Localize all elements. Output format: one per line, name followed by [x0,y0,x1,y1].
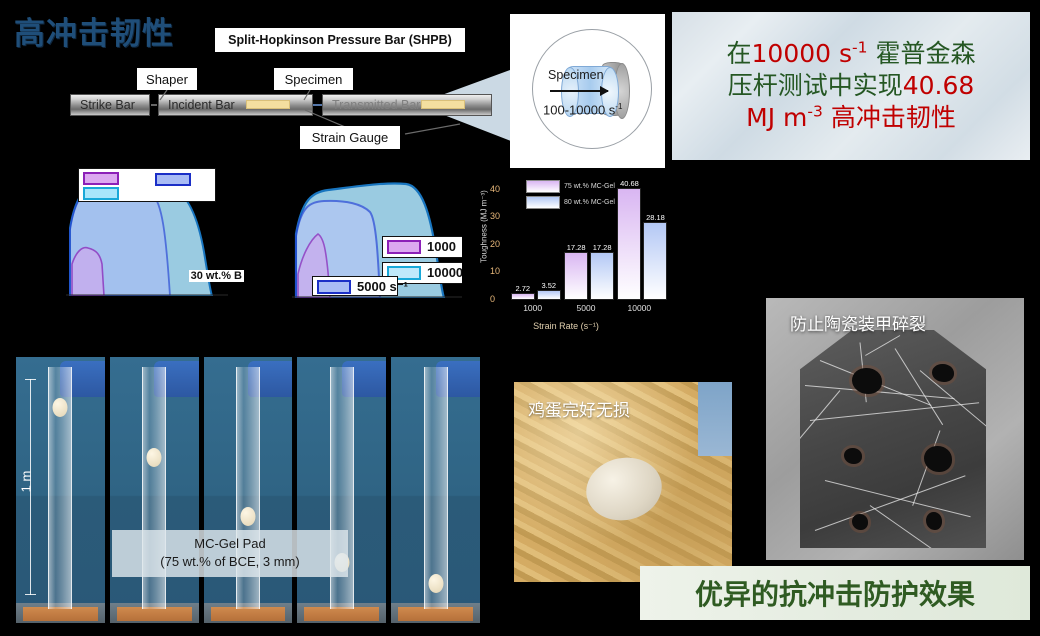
y-tick-label: 10 [490,266,500,276]
crack-line [865,335,900,356]
impact-hole [926,512,942,530]
legend-swatch [526,180,560,193]
bar: 17.28 [590,252,614,300]
y-tick-label: 40 [490,184,500,194]
zoom-specimen-label: Specimen [548,68,604,82]
bar-chart-x-axis-label: Strain Rate (s⁻¹) [462,321,670,332]
headline-line-3: MJ m-3 高冲击韧性 [746,102,956,134]
bar-value-label: 2.72 [515,284,530,293]
impact-hole [852,368,882,394]
crack-line [895,348,944,425]
falling-egg [53,398,68,417]
bar-chart-legend: 75 wt.% MC-Gel80 wt.% MC-Gel [526,180,615,212]
stress-strain-chart-1: 30 wt.% B [62,168,232,296]
drop-test-frame [297,357,386,623]
landing-mat [117,607,192,621]
toughness-bar-chart: Toughness (MJ m⁻³) 010203040 2.723.52100… [462,168,670,336]
label-specimen: Specimen [274,68,353,90]
landing-mat [304,607,379,621]
landing-mat [398,607,473,621]
egg-photo-label: 鸡蛋完好无损 [528,396,630,421]
bar-group: 40.6828.1810000 [617,176,661,300]
legend-swatch-blue [317,280,351,294]
bar-value-label: 17.28 [567,243,586,252]
label-strain-gauge: Strain Gauge [300,126,400,149]
bar-value-label: 28.18 [646,213,665,222]
legend-swatch-purple [83,172,119,185]
crack-line [920,370,1005,441]
legend-entry: 80 wt.% MC-Gel [526,196,615,209]
drop-test-frame: 1 m [16,357,105,623]
zoom-strain-rate-label: 100-10000 s-1 [543,102,622,117]
banner-text: 优异的抗冲击防护效果 [695,573,975,613]
bar-assembly: Strike Bar Incident Bar Transmitted Bar [70,94,492,116]
egg-photo: 鸡蛋完好无损 [514,382,732,582]
impact-hole [844,448,862,464]
falling-egg [147,448,162,467]
strain-gauge-icon [421,100,465,109]
impact-hole [852,514,868,530]
crack-line [810,402,979,421]
headline-callout: 在10000 s-1 霍普金森 压杆测试中实现40.68 MJ m-3 高冲击韧… [672,12,1030,160]
bar: 40.68 [617,188,641,300]
y-tick-label: 20 [490,239,500,249]
legend-swatch-blue [155,173,191,186]
y-tick-label: 30 [490,211,500,221]
headline-line-2: 压杆测试中实现40.68 [728,70,975,102]
shpb-zoom-panel: Specimen 100-10000 s-1 [510,14,665,169]
headline-line-1: 在10000 s-1 霍普金森 [727,38,976,70]
impact-arrow-icon [550,90,608,92]
x-tick-label: 10000 [627,303,651,313]
slide-canvas: 高冲击韧性 Split-Hopkinson Pressure Bar (SHPB… [0,0,1040,636]
drop-test-photo-strip: 1 m [16,357,480,623]
bar: 3.52 [537,290,561,300]
bar: 17.28 [564,252,588,300]
curve-1-note: 30 wt.% B [189,270,244,282]
legend-swatch-purple [387,240,421,254]
legend-label: 1000 [427,239,456,254]
legend-swatch [526,196,560,209]
drop-test-frame [204,357,293,623]
drop-test-frame [110,357,199,623]
legend-entry: 75 wt.% MC-Gel [526,180,615,193]
falling-egg [428,574,443,593]
incident-bar: Incident Bar [158,94,313,116]
bar: 28.18 [643,222,667,300]
drop-test-frame [391,357,480,623]
conclusion-banner: 优异的抗冲击防护效果 [640,566,1030,620]
curve-2-legend-5000: 5000 s⁻¹ [312,276,398,296]
bar-value-label: 3.52 [541,281,556,290]
x-tick-label: 1000 [523,303,542,313]
strain-gauge-icon [246,100,290,109]
legend-label: 80 wt.% MC-Gel [564,199,615,206]
impact-hole [924,446,952,472]
shpb-title: Split-Hopkinson Pressure Bar (SHPB) [215,28,465,52]
mc-gel-pad-callout: MC-Gel Pad (75 wt.% of BCE, 3 mm) [112,530,348,577]
bar-value-label: 40.68 [620,179,639,188]
transmitted-bar: Transmitted Bar [322,94,492,116]
bar-chart-y-axis-label: Toughness (MJ m⁻³) [480,181,489,273]
label-shaper: Shaper [137,68,197,90]
bar-value-label: 17.28 [593,243,612,252]
specimen-piece [313,104,322,106]
strike-bar: Strike Bar [70,94,150,116]
ceramic-armor-photo: 防止陶瓷装甲碎裂 [766,298,1024,560]
pad-callout-line-2: (75 wt.% of BCE, 3 mm) [112,553,348,571]
y-tick-label: 0 [490,294,495,304]
intact-egg [580,451,667,527]
incident-bar-label: Incident Bar [159,98,235,112]
transmitted-bar-label: Transmitted Bar [323,98,420,112]
shaper-piece [151,104,157,106]
stress-strain-chart-2: 1000 10000 5000 s⁻¹ [290,178,470,298]
armor-photo-label: 防止陶瓷装甲碎裂 [790,310,926,335]
landing-mat [211,607,286,621]
landing-mat [23,607,98,621]
pad-callout-line-1: MC-Gel Pad [112,535,348,553]
x-tick-label: 5000 [577,303,596,313]
acrylic-tube [424,367,448,609]
legend-label: 10000 [427,265,463,280]
scale-label: 1 m [19,471,34,493]
legend-label: 5000 s⁻¹ [357,279,408,295]
strike-bar-label: Strike Bar [71,98,135,112]
bar: 2.72 [511,293,535,300]
falling-egg [240,507,255,526]
impact-hole [932,364,954,382]
legend-swatch-cyan [83,187,119,200]
curve-1-legend [78,168,216,202]
photo-sky-region [698,382,732,456]
armor-plate [800,330,986,548]
legend-label: 75 wt.% MC-Gel [564,183,615,190]
